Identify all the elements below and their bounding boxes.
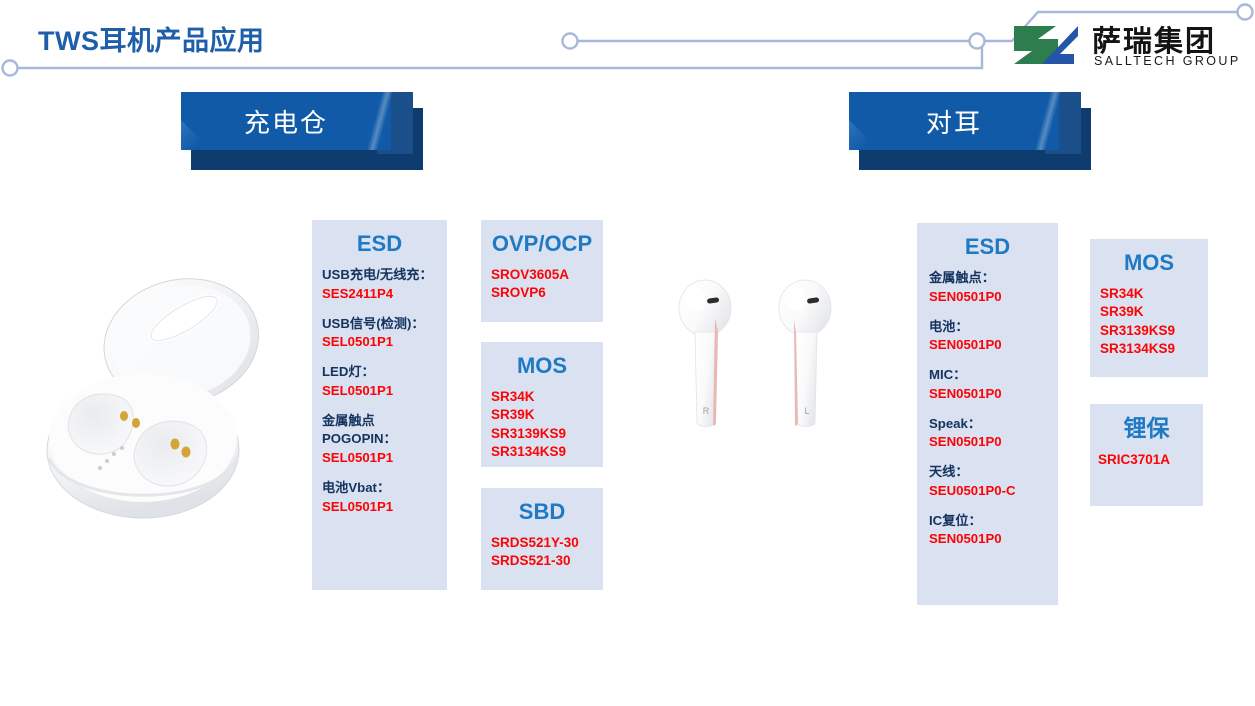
- part-number: SRDS521-30: [491, 552, 603, 570]
- deco-node-mid: [563, 34, 578, 49]
- entry-pogopin: 金属触点 POGOPIN： SEL0501P1: [322, 412, 447, 468]
- entry-antenna: 天线： SEU0501P0-C: [929, 463, 1058, 500]
- part-number: SR34K: [491, 388, 603, 406]
- entry-label: 电池：: [929, 318, 1058, 337]
- charging-case-image: [30, 250, 302, 540]
- entry-label: Speak：: [929, 415, 1058, 434]
- entry-label: 金属触点 POGOPIN：: [322, 412, 447, 449]
- box-title-ovp-ocp: OVP/OCP: [481, 232, 603, 256]
- entry-value: SEN0501P0: [929, 530, 1058, 549]
- part-number: SROV3605A: [491, 266, 603, 284]
- part-number: SROVP6: [491, 284, 603, 302]
- part-number: SR39K: [1100, 303, 1208, 321]
- entry-value: SEL0501P1: [322, 333, 447, 352]
- entry-value: SEN0501P0: [929, 336, 1058, 355]
- entry-value: SEN0501P0: [929, 288, 1058, 307]
- entry-usb-signal: USB信号(检测)： SEL0501P1: [322, 315, 447, 352]
- entry-mic: MIC： SEN0501P0: [929, 366, 1058, 403]
- brand-logo: 萨瑞集团 SALLTECH GROUP: [1008, 18, 1240, 76]
- box-title-sbd: SBD: [481, 500, 603, 524]
- entry-label: IC复位：: [929, 512, 1058, 531]
- entry-value: SEL0501P1: [322, 498, 447, 517]
- part-number: SR3134KS9: [1100, 340, 1208, 358]
- entry-ic-reset: IC复位： SEN0501P0: [929, 512, 1058, 549]
- section-banner-earbuds: 对耳: [849, 92, 1081, 154]
- entry-battery: 电池： SEN0501P0: [929, 318, 1058, 355]
- box-title-esd: ESD: [312, 232, 447, 256]
- box-title-mos: MOS: [1090, 251, 1208, 275]
- deco-node-right: [970, 34, 985, 49]
- part-number: SR39K: [491, 406, 603, 424]
- info-box-case-mos: MOS SR34K SR39K SR3139KS9 SR3134KS9: [481, 342, 603, 467]
- entry-value: SEL0501P1: [322, 449, 447, 468]
- part-number: SR34K: [1100, 285, 1208, 303]
- page-title: TWS耳机产品应用: [38, 19, 265, 58]
- entry-label: MIC：: [929, 366, 1058, 385]
- entry-led: LED灯： SEL0501P1: [322, 363, 447, 400]
- svg-text:R: R: [703, 406, 710, 416]
- part-number: SR3139KS9: [491, 425, 603, 443]
- earbud-left: L: [779, 280, 831, 427]
- logo-name-en: SALLTECH GROUP: [1094, 54, 1241, 68]
- entry-metal-contact: 金属触点： SEN0501P0: [929, 269, 1058, 306]
- entry-label: 金属触点：: [929, 269, 1058, 288]
- info-box-bud-esd: ESD 金属触点： SEN0501P0 电池： SEN0501P0 MIC： S…: [917, 223, 1058, 605]
- info-box-case-sbd: SBD SRDS521Y-30 SRDS521-30: [481, 488, 603, 590]
- part-number: SR3139KS9: [1100, 322, 1208, 340]
- svg-text:L: L: [804, 406, 809, 416]
- entry-label: 天线：: [929, 463, 1058, 482]
- entry-vbat: 电池Vbat： SEL0501P1: [322, 479, 447, 516]
- info-box-bud-battery-protection: 锂保 SRIC3701A: [1090, 404, 1203, 506]
- part-number: SR3134KS9: [491, 443, 603, 461]
- banner-label-earbuds: 对耳: [849, 92, 1059, 150]
- entry-label: USB充电/无线充：: [322, 266, 447, 285]
- entry-value: SEL0501P1: [322, 382, 447, 401]
- banner-label-charging-case: 充电仓: [181, 92, 391, 150]
- info-box-case-esd: ESD USB充电/无线充： SES2411P4 USB信号(检测)： SEL0…: [312, 220, 447, 590]
- entry-value: SEN0501P0: [929, 433, 1058, 452]
- info-box-bud-mos: MOS SR34K SR39K SR3139KS9 SR3134KS9: [1090, 239, 1208, 377]
- info-box-case-ovp-ocp: OVP/OCP SROV3605A SROVP6: [481, 220, 603, 322]
- box-title-mos: MOS: [481, 354, 603, 378]
- entry-usb-charge: USB充电/无线充： SES2411P4: [322, 266, 447, 303]
- entry-label: 电池Vbat：: [322, 479, 447, 498]
- box-title-battery-protection: 锂保: [1090, 416, 1203, 441]
- salltech-logo-icon: [1008, 22, 1084, 68]
- box-title-esd: ESD: [917, 235, 1058, 259]
- entry-value: SES2411P4: [322, 285, 447, 304]
- entry-label: LED灯：: [322, 363, 447, 382]
- slide-root: TWS耳机产品应用 萨瑞集团 SALLTECH GROUP 充电仓 对耳: [0, 0, 1255, 706]
- entry-value: SEN0501P0: [929, 385, 1058, 404]
- earbuds-image: R L: [665, 272, 865, 472]
- deco-node-left: [3, 61, 18, 76]
- part-number: SRIC3701A: [1098, 451, 1203, 469]
- entry-label: USB信号(检测)：: [322, 315, 447, 334]
- section-banner-charging-case: 充电仓: [181, 92, 413, 154]
- part-number: SRDS521Y-30: [491, 534, 603, 552]
- entry-value: SEU0501P0-C: [929, 482, 1058, 501]
- earbud-right: R: [679, 280, 731, 427]
- entry-speaker: Speak： SEN0501P0: [929, 415, 1058, 452]
